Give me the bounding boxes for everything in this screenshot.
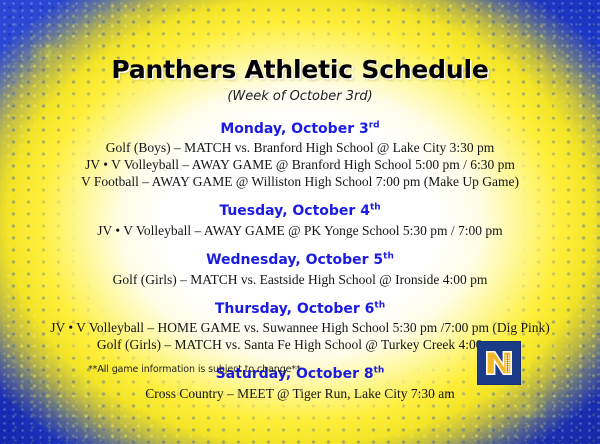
- day-name: Thursday, October 6: [215, 301, 375, 317]
- schedule-poster: Panthers Athletic Schedule (Week of Octo…: [0, 0, 600, 444]
- day-heading: Monday, October 3rd: [46, 121, 554, 139]
- day-heading: Tuesday, October 4th: [46, 203, 554, 221]
- day-heading: Thursday, October 6th: [46, 301, 554, 319]
- event-line: JV • V Volleyball – AWAY GAME @ Branford…: [46, 156, 554, 173]
- day-ordinal-suffix: th: [374, 300, 385, 310]
- day-name: Tuesday, October 4: [219, 203, 370, 219]
- letter-n-icon: [483, 347, 515, 379]
- day-block: Wednesday, October 5thGolf (Girls) – MAT…: [46, 252, 554, 288]
- day-block: Monday, October 3rdGolf (Boys) – MATCH v…: [46, 121, 554, 191]
- disclaimer-note: **All game information is subject to cha…: [88, 364, 301, 375]
- day-block: Tuesday, October 4thJV • V Volleyball – …: [46, 203, 554, 239]
- page-title: Panthers Athletic Schedule: [46, 56, 554, 84]
- event-line: Golf (Boys) – MATCH vs. Branford High Sc…: [46, 139, 554, 156]
- event-line: Cross Country – MEET @ Tiger Run, Lake C…: [46, 385, 554, 402]
- event-line: JV • V Volleyball – HOME GAME vs. Suwann…: [46, 319, 554, 336]
- event-line: JV • V Volleyball – AWAY GAME @ PK Yonge…: [46, 222, 554, 239]
- day-ordinal-suffix: th: [370, 203, 381, 213]
- day-name: Wednesday, October 5: [206, 252, 383, 268]
- day-name: Monday, October 3: [220, 121, 368, 137]
- day-ordinal-suffix: rd: [369, 120, 380, 130]
- day-heading: Wednesday, October 5th: [46, 252, 554, 270]
- day-ordinal-suffix: th: [383, 251, 394, 261]
- event-line: Golf (Girls) – MATCH vs. Eastside High S…: [46, 271, 554, 288]
- day-ordinal-suffix: th: [374, 366, 385, 376]
- school-logo: [477, 341, 521, 385]
- page-subtitle: (Week of October 3rd): [46, 89, 554, 104]
- event-line: V Football – AWAY GAME @ Williston High …: [46, 173, 554, 190]
